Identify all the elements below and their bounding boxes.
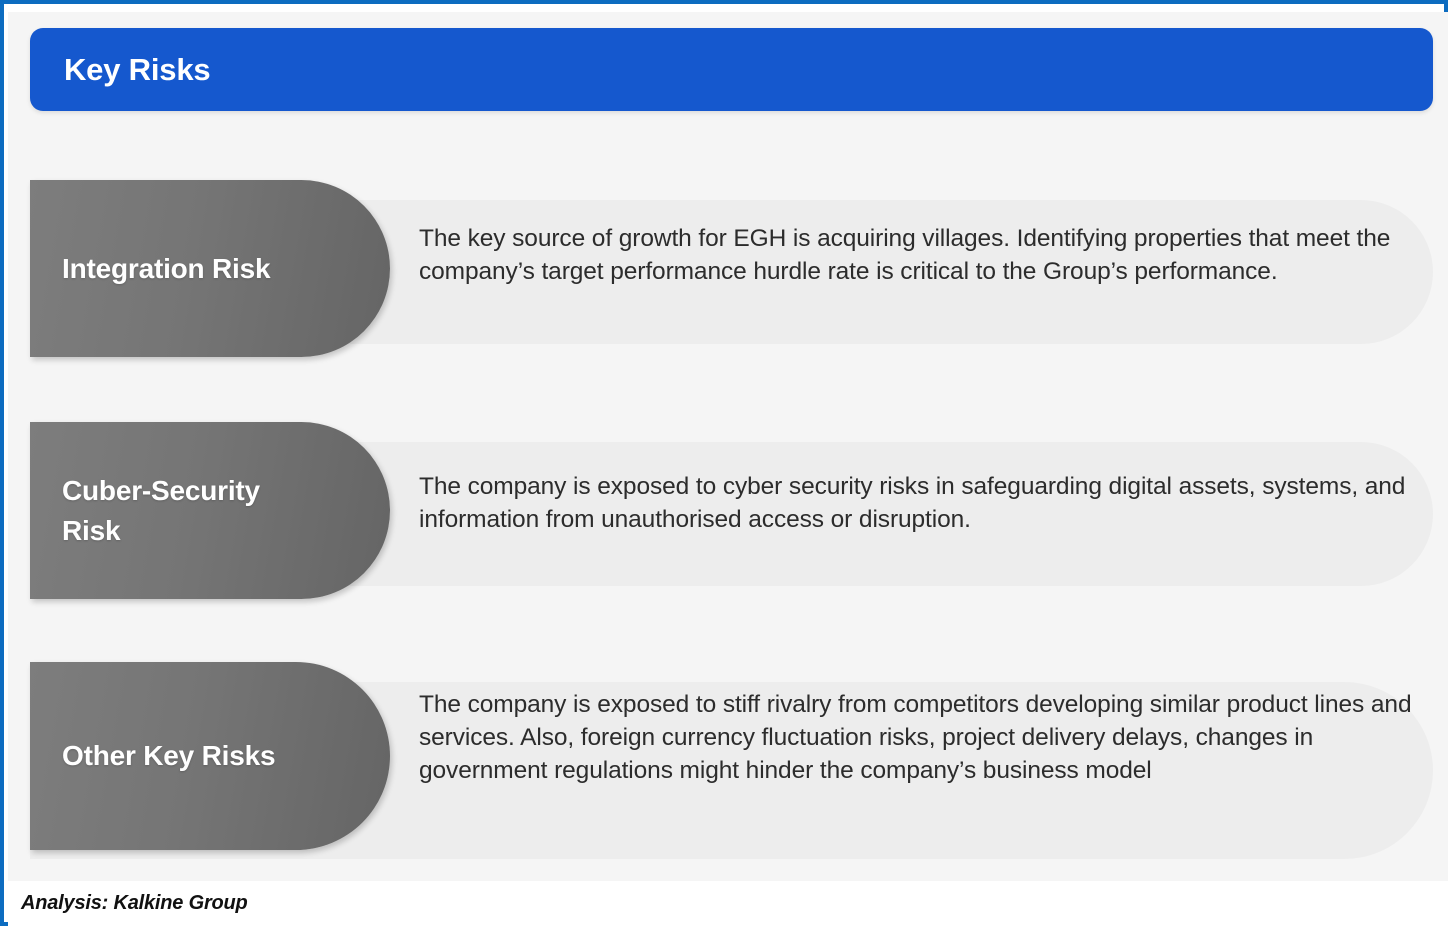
source-attribution: Analysis: Kalkine Group — [8, 892, 248, 915]
risk-label-pill: Other Key Risks — [30, 662, 390, 850]
risk-label-pill: Cuber-Security Risk — [30, 422, 390, 599]
key-risks-header-bar: Key Risks — [30, 28, 1433, 111]
risk-label-text: Cuber-Security Risk — [62, 471, 316, 551]
risk-label-text: Other Key Risks — [62, 736, 275, 776]
footer-strip: Analysis: Kalkine Group — [8, 881, 1448, 926]
risk-description-text: The company is exposed to stiff rivalry … — [419, 688, 1424, 787]
risk-description-text: The key source of growth for EGH is acqu… — [419, 222, 1419, 288]
risk-description-text: The company is exposed to cyber security… — [419, 470, 1419, 536]
content-panel: Key Risks Integration Risk The key sourc… — [8, 12, 1448, 881]
page-title: Key Risks — [30, 52, 210, 88]
risk-label-pill: Integration Risk — [30, 180, 390, 357]
slide-frame: Key Risks Integration Risk The key sourc… — [0, 0, 1448, 926]
risk-label-text: Integration Risk — [62, 249, 270, 289]
